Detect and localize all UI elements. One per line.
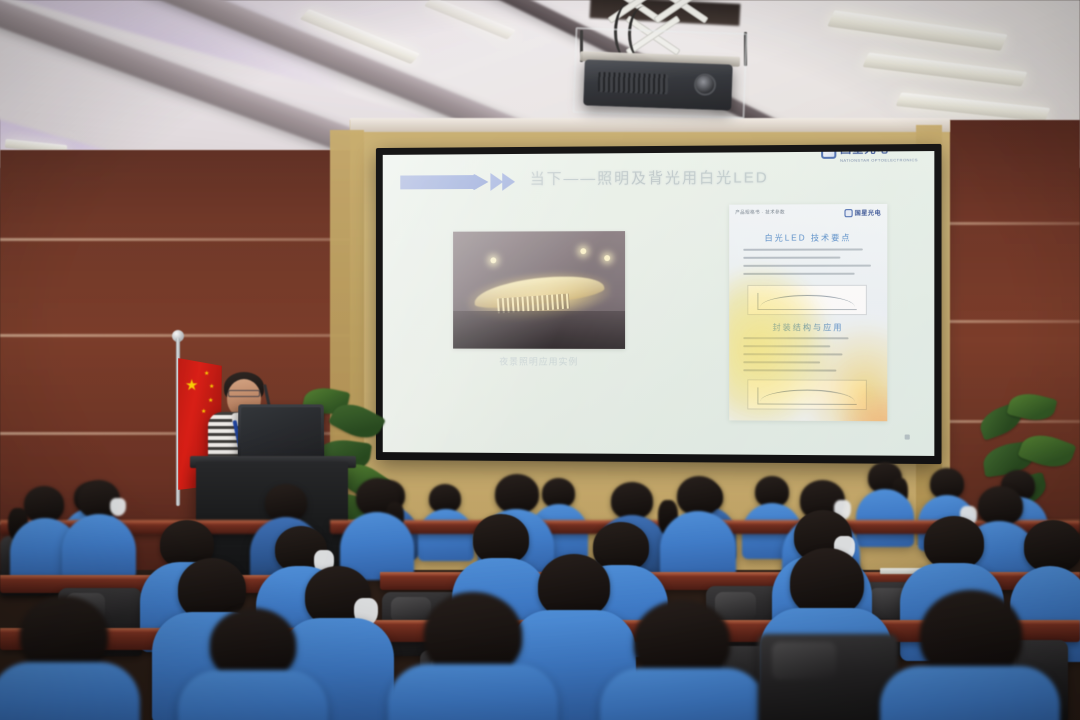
- projection-screen: 当下——照明及背光用白光LED 夜景照明应用实例 产品规格书 · 技术参数 国星…: [376, 144, 942, 464]
- ceiling-light-fixture: [424, 0, 516, 40]
- conference-room-photo: 当下——照明及背光用白光LED 夜景照明应用实例 产品规格书 · 技术参数 国星…: [0, 0, 1080, 720]
- ceiling-light-fixture: [827, 10, 1007, 51]
- ceiling-projector: [572, 0, 762, 146]
- ceiling-light-fixture: [863, 53, 1028, 87]
- audience-row-near: [0, 586, 1080, 720]
- projector-body: [583, 59, 733, 110]
- audience-member: [178, 608, 328, 720]
- projector-vent: [598, 72, 669, 94]
- projector-lens: [694, 73, 717, 96]
- audience-member: [0, 596, 140, 720]
- audience-member: [600, 600, 766, 720]
- slide-surface: 当下——照明及背光用白光LED 夜景照明应用实例 产品规格书 · 技术参数 国星…: [383, 151, 935, 456]
- flag-star-large: ★: [185, 378, 198, 393]
- eyeglasses-icon: [228, 390, 260, 397]
- screen-sheen: [383, 151, 935, 456]
- audience-member: [388, 592, 558, 720]
- audience-member: [880, 590, 1060, 720]
